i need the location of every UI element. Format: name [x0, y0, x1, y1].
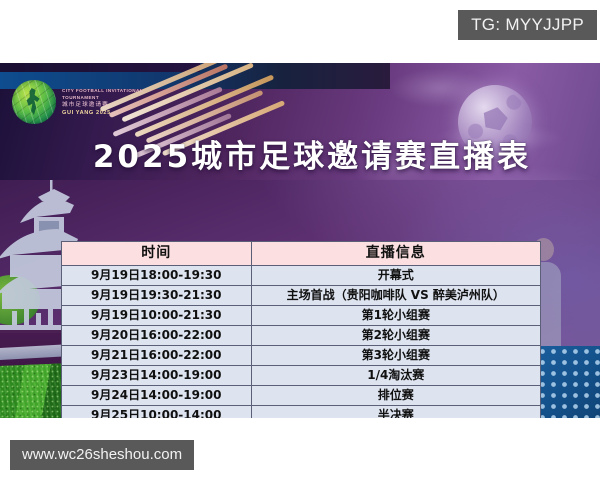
logo-english-line1: CITY FOOTBALL INVITATIONAL [62, 88, 143, 94]
table-row: 9月25日10:00-14:00半决赛 [62, 406, 541, 419]
cell-time: 9月21日16:00-22:00 [62, 346, 252, 366]
cell-info: 半决赛 [251, 406, 540, 419]
schedule-table: 时间 直播信息 9月19日18:00-19:30开幕式9月19日19:30-21… [61, 241, 541, 418]
cell-time: 9月19日10:00-21:30 [62, 306, 252, 326]
logo-text-group: CITY FOOTBALL INVITATIONAL TOURNAMENT 城市… [62, 88, 143, 117]
table-row: 9月20日16:00-22:00第2轮小组赛 [62, 326, 541, 346]
cell-time: 9月24日14:00-19:00 [62, 386, 252, 406]
event-logo: CITY FOOTBALL INVITATIONAL TOURNAMENT 城市… [12, 80, 143, 124]
poster-image: CITY FOOTBALL INVITATIONAL TOURNAMENT 城市… [0, 63, 600, 418]
logo-emblem-icon [12, 80, 56, 124]
poster-banner: CITY FOOTBALL INVITATIONAL TOURNAMENT 城市… [0, 63, 600, 180]
table-row: 9月19日18:00-19:30开幕式 [62, 266, 541, 286]
cell-info: 1/4淘汰赛 [251, 366, 540, 386]
cell-time: 9月23日14:00-19:00 [62, 366, 252, 386]
logo-chinese-name: 城市足球邀请赛 [62, 102, 143, 109]
column-header-time: 时间 [62, 242, 252, 266]
cell-info: 主场首战（贵阳咖啡队 VS 醉美泸州队） [251, 286, 540, 306]
schedule-table-head: 时间 直播信息 [62, 242, 541, 266]
telegram-watermark: TG: MYYJJPP [458, 10, 597, 40]
table-row: 9月19日10:00-21:30第1轮小组赛 [62, 306, 541, 326]
cell-time: 9月25日10:00-14:00 [62, 406, 252, 419]
logo-english-line2: TOURNAMENT [62, 95, 143, 101]
table-row: 9月19日19:30-21:30主场首战（贵阳咖啡队 VS 醉美泸州队） [62, 286, 541, 306]
cell-time: 9月19日19:30-21:30 [62, 286, 252, 306]
schedule-table-container: 时间 直播信息 9月19日18:00-19:30开幕式9月19日19:30-21… [61, 241, 541, 418]
cell-time: 9月19日18:00-19:30 [62, 266, 252, 286]
logo-city-year: GUI YANG 2025 [62, 110, 143, 117]
cell-info: 第1轮小组赛 [251, 306, 540, 326]
cell-info: 第3轮小组赛 [251, 346, 540, 366]
poster-title: 2025城市足球邀请赛直播表 [0, 131, 600, 176]
table-row: 9月23日14:00-19:001/4淘汰赛 [62, 366, 541, 386]
table-row: 9月21日16:00-22:00第3轮小组赛 [62, 346, 541, 366]
cell-info: 开幕式 [251, 266, 540, 286]
cell-time: 9月20日16:00-22:00 [62, 326, 252, 346]
site-url-watermark: www.wc26sheshou.com [10, 440, 194, 470]
table-header-row: 时间 直播信息 [62, 242, 541, 266]
cell-info: 第2轮小组赛 [251, 326, 540, 346]
cell-info: 排位赛 [251, 386, 540, 406]
column-header-info: 直播信息 [251, 242, 540, 266]
schedule-table-body: 9月19日18:00-19:30开幕式9月19日19:30-21:30主场首战（… [62, 266, 541, 419]
table-row: 9月24日14:00-19:00排位赛 [62, 386, 541, 406]
